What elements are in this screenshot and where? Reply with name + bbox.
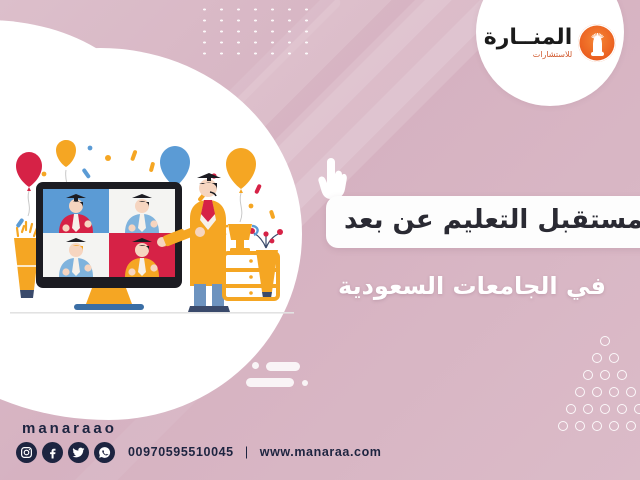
decor-dot	[302, 380, 308, 386]
decor-circle	[592, 353, 602, 363]
social-links	[16, 442, 115, 463]
decor-dot	[252, 362, 259, 369]
tower-shape	[593, 36, 602, 53]
decor-circle	[617, 370, 627, 380]
decor-circle	[600, 336, 610, 346]
headline-badge: مستقبل التعليم عن بعد	[326, 196, 640, 248]
footer-bar: manaraao	[0, 414, 640, 480]
mark-band-text: المنارة	[591, 52, 603, 57]
balloon-orange-right	[226, 148, 256, 222]
decor-pill	[246, 378, 294, 387]
footer-brand: manaraao	[22, 420, 117, 437]
decor-circle	[583, 404, 593, 414]
online-graduation-illustration	[4, 140, 300, 330]
decor-circle	[626, 387, 636, 397]
instagram-icon[interactable]	[16, 442, 37, 463]
footer-separator: |	[245, 445, 249, 459]
headline-line1: مستقبل التعليم عن بعد	[344, 206, 640, 236]
pointing-hand-icon	[318, 158, 348, 200]
decor-circle	[634, 404, 640, 414]
decor-circle	[575, 387, 585, 397]
decor-circle	[592, 387, 602, 397]
decor-circle	[583, 370, 593, 380]
subheadline: في الجامعات السعودية	[322, 272, 622, 300]
decor-circle	[609, 387, 619, 397]
decor-circle	[600, 370, 610, 380]
whatsapp-icon[interactable]	[94, 442, 115, 463]
footer-phone[interactable]: 00970595510045	[128, 445, 234, 459]
poster-canvas: المنــارة للاستشارات المنارة مستقبل التع…	[0, 0, 640, 480]
logo-arabic-name: المنــارة	[484, 27, 572, 49]
decor-pill	[266, 362, 300, 371]
twitter-icon[interactable]	[68, 442, 89, 463]
decor-circle	[617, 404, 627, 414]
footer-contact: 00970595510045 | www.manaraa.com	[128, 445, 382, 459]
facebook-icon[interactable]	[42, 442, 63, 463]
lighthouse-mark-icon: المنارة	[578, 24, 616, 62]
headline-line2: في الجامعات السعودية	[322, 272, 622, 300]
footer-website[interactable]: www.manaraa.com	[260, 445, 382, 459]
manaraa-logo-badge[interactable]: المنــارة للاستشارات المنارة	[476, 0, 624, 106]
ground-line	[10, 312, 294, 314]
decor-circle	[600, 404, 610, 414]
decor-circle	[566, 404, 576, 414]
dot-grid-pattern	[196, 4, 308, 58]
decor-circle	[609, 353, 619, 363]
logo-arabic-subtitle: للاستشارات	[533, 51, 573, 59]
